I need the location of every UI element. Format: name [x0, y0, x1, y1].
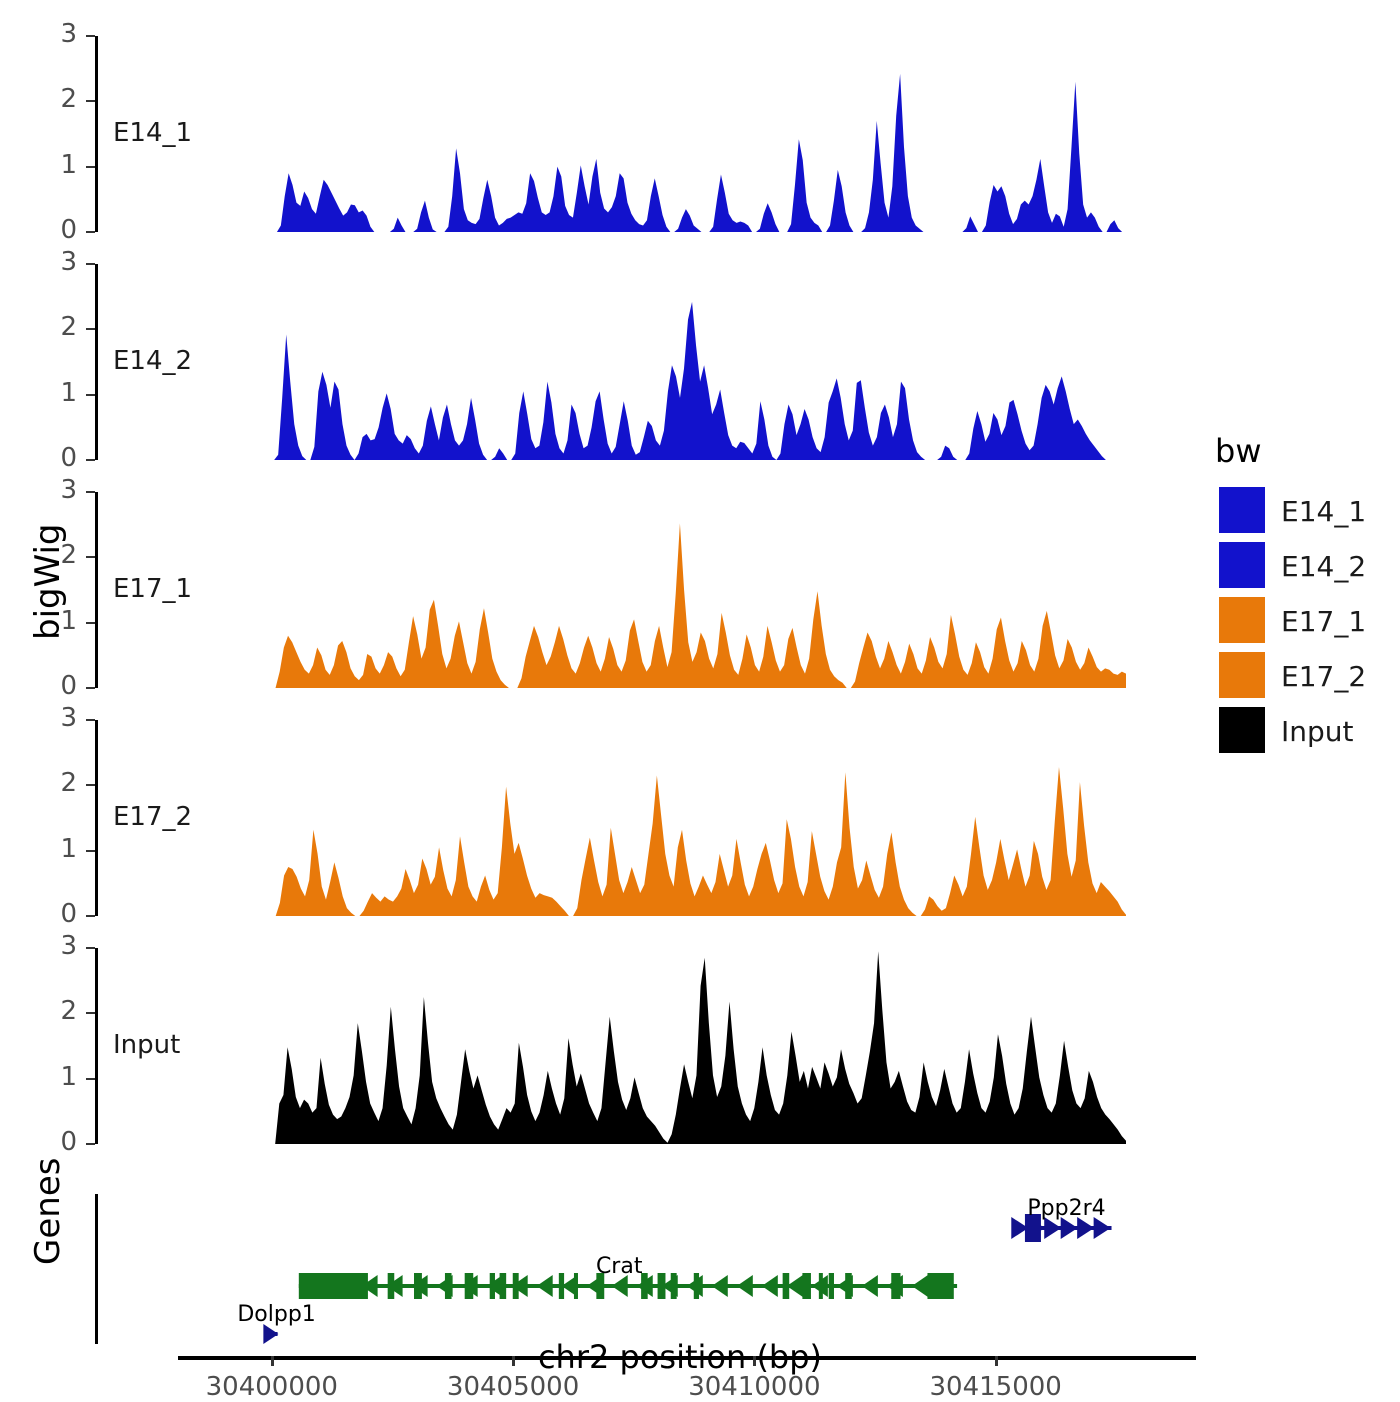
legend-title: bw: [1215, 432, 1261, 470]
legend-label-e17_2: E17_2: [1281, 660, 1366, 693]
legend-label-e14_2: E14_2: [1281, 550, 1366, 583]
track-area-e17_1: [0, 492, 1400, 688]
track-area-e17_2: [0, 720, 1400, 916]
legend-swatch-e14_1[interactable]: [1219, 487, 1265, 533]
track-area-input: [0, 948, 1400, 1144]
x-axis-tick-label: 30415000: [886, 1372, 1106, 1402]
gene-label-dolpp1: Dolpp1: [237, 1302, 315, 1327]
legend-label-e17_1: E17_1: [1281, 605, 1366, 638]
x-axis-tick-label: 30400000: [162, 1372, 382, 1402]
legend-swatch-input[interactable]: [1219, 707, 1265, 753]
gene-label-ppp2r4: Ppp2r4: [1027, 1196, 1105, 1221]
legend-swatch-e17_1[interactable]: [1219, 597, 1265, 643]
gene-label-crat: Crat: [596, 1254, 643, 1279]
legend-swatch-e14_2[interactable]: [1219, 542, 1265, 588]
genome-browser-figure: bigWig Genes 0123E14_10123E14_20123E17_1…: [0, 0, 1400, 1400]
track-area-e14_2: [0, 264, 1400, 460]
x-axis-tick-label: 30405000: [403, 1372, 623, 1402]
track-area-e14_1: [0, 36, 1400, 232]
legend-label-input: Input: [1281, 715, 1354, 748]
legend-label-e14_1: E14_1: [1281, 495, 1366, 528]
x-axis-tick-label: 30410000: [644, 1372, 864, 1402]
x-axis-title: chr2 position (bp): [180, 1338, 1180, 1376]
legend-swatch-e17_2[interactable]: [1219, 652, 1265, 698]
